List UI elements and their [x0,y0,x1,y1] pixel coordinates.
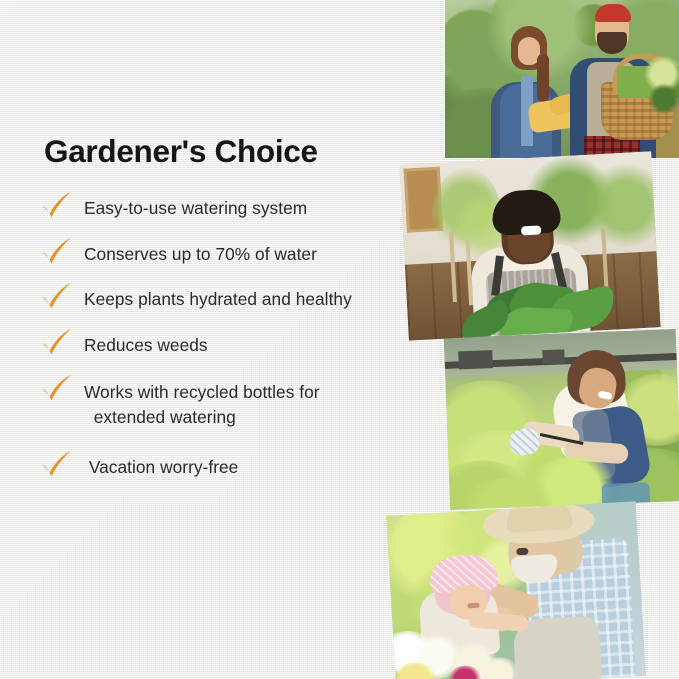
check-icon [40,327,74,357]
product-feature-card: Gardener's Choice Easy-to-use watering s… [0,0,679,679]
photo-grandfather-and-child [386,501,646,679]
feature-label: Easy-to-use watering system [84,197,307,220]
check-icon [40,236,74,266]
page-title: Gardener's Choice [44,133,318,170]
feature-label: Vacation worry-free [84,456,238,479]
check-icon [40,281,74,311]
check-icon [40,190,74,220]
text-column: Gardener's Choice Easy-to-use watering s… [0,0,420,679]
photo-woman-tending-plants [444,329,679,510]
feature-label: Reduces weeds [84,334,208,357]
check-icon [40,373,74,403]
photo-man-with-potted-plant [399,151,660,340]
feature-label: Works with recycled bottles for extended… [84,380,320,430]
check-icon [40,449,74,479]
feature-label: Keeps plants hydrated and healthy [84,288,352,311]
photo-couple-with-harvest-basket [445,0,679,158]
feature-label: Conserves up to 70% of water [84,243,317,266]
